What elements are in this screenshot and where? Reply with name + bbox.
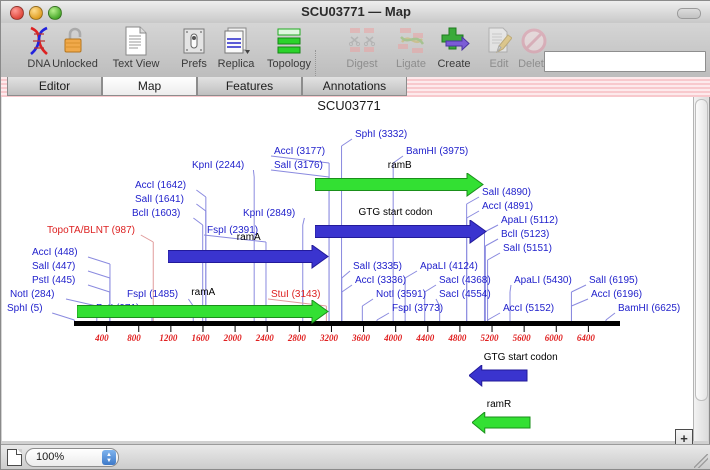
axis-tick	[492, 326, 493, 332]
axis-tick-label: 2400	[256, 333, 274, 343]
site-leader-hook	[342, 139, 352, 146]
axis-tick	[106, 326, 107, 332]
site-leader-hook	[196, 204, 205, 211]
restriction-site-label[interactable]: BclI (5123)	[501, 229, 549, 240]
site-leader-hook	[572, 299, 588, 306]
axis-tick-label: 400	[95, 333, 109, 343]
toolbar-button-replica[interactable]: Replica	[206, 25, 266, 75]
site-leader-hook	[88, 257, 110, 264]
axis-tick	[363, 326, 364, 332]
site-leader-hook	[488, 313, 500, 320]
feature-arrow-ramb[interactable]	[315, 173, 485, 198]
site-leader-hook	[606, 313, 615, 320]
updown-stepper-icon[interactable]: ▲▼	[102, 450, 116, 465]
range-input[interactable]	[544, 51, 706, 72]
scrollbar-thumb[interactable]	[695, 99, 708, 401]
feature-label: ramA	[191, 287, 215, 298]
toolbar-button-label: Replica	[206, 58, 266, 70]
restriction-site-label[interactable]: ApaLI (5430)	[514, 275, 572, 286]
arrow-shape	[315, 173, 483, 196]
axis-tick	[299, 326, 300, 332]
axis-tick	[459, 326, 460, 332]
restriction-site-label[interactable]: SalI (4890)	[482, 187, 531, 198]
axis-tick-label: 6400	[577, 333, 595, 343]
restriction-site-label[interactable]: StuI (3143)	[271, 289, 320, 300]
open-padlock-icon	[45, 25, 105, 57]
restriction-site-label[interactable]: AccI (3336)	[355, 275, 406, 286]
restriction-site-label[interactable]: AccI (4891)	[482, 201, 533, 212]
tab-features[interactable]: Features	[197, 77, 302, 96]
restriction-site-label[interactable]: ApaLI (5112)	[501, 215, 558, 226]
site-leader-hook	[377, 313, 389, 320]
restriction-site-label[interactable]: KpnI (2849)	[243, 208, 295, 219]
site-leader-hook	[488, 253, 500, 260]
tab-editor[interactable]: Editor	[7, 77, 102, 96]
restriction-site-label[interactable]: SalI (5151)	[503, 243, 552, 254]
toolbar-button-text-view[interactable]: Text View	[106, 25, 166, 75]
tab-annotations[interactable]: Annotations	[302, 77, 407, 96]
axis-tick-label: 5200	[481, 333, 499, 343]
axis-tick	[524, 326, 525, 332]
site-leader-hook	[52, 313, 74, 320]
axis-tick	[202, 326, 203, 332]
site-leader-hook	[571, 285, 586, 292]
site-leader-hook	[362, 299, 373, 306]
axis-tick	[395, 326, 396, 332]
restriction-site-label[interactable]: SalI (3176)	[274, 160, 323, 171]
restriction-site-label[interactable]: BamHI (3975)	[406, 146, 468, 157]
axis-tick-label: 1600	[191, 333, 209, 343]
arrow-shape	[77, 300, 328, 323]
axis-tick	[588, 326, 589, 332]
restriction-site-label[interactable]: NotI (284)	[10, 289, 54, 300]
zoom-value: 100%	[36, 451, 64, 463]
feature-arrow-gtg-start-codon[interactable]	[315, 220, 488, 245]
axis-tick-label: 4800	[448, 333, 466, 343]
restriction-site-label[interactable]: SphI (3332)	[355, 129, 407, 140]
feature-arrow-rama[interactable]	[168, 245, 330, 270]
title-bar: SCU03771 — Map	[1, 1, 710, 24]
arrow-shape	[469, 365, 527, 386]
axis-tick	[331, 326, 332, 332]
axis-tick-label: 5600	[513, 333, 531, 343]
axis-tick-label: 3600	[352, 333, 370, 343]
zoom-select[interactable]: 100% ▲▼	[25, 448, 119, 467]
axis-tick	[235, 326, 236, 332]
restriction-site-label[interactable]: SphI (5)	[7, 303, 43, 314]
toolbar-toggle-button[interactable]	[677, 8, 701, 19]
site-leader-hook	[253, 170, 254, 177]
site-leader-hook	[467, 197, 479, 204]
status-bar: 100% ▲▼	[1, 444, 710, 469]
feature-arrow-gtg-start-codon[interactable]	[469, 365, 529, 388]
restriction-site-label[interactable]: ApaLI (4124)	[420, 261, 478, 272]
restriction-site-label[interactable]: SacI (4554)	[439, 289, 491, 300]
page-icon	[7, 449, 22, 466]
topology-bars-icon	[259, 25, 319, 57]
axis-tick-label: 800	[127, 333, 141, 343]
axis-tick-label: 2800	[288, 333, 306, 343]
restriction-site-label[interactable]: SalI (3335)	[353, 261, 402, 272]
feature-label: ramB	[388, 160, 412, 171]
site-leader-hook	[510, 285, 511, 292]
restriction-site-label[interactable]: TopoTA/BLNT (987)	[47, 225, 135, 236]
tab-map[interactable]: Map	[102, 77, 197, 96]
toolbar: DNA Unlocked Text View Prefs Replica Top…	[1, 23, 710, 78]
map-canvas[interactable]: SCU03771 4008001200160020002400280032003…	[2, 97, 696, 441]
site-leader-hook	[342, 285, 352, 292]
site-leader-hook	[342, 271, 350, 278]
restriction-site-label[interactable]: BamHI (6625)	[618, 303, 680, 314]
document-text-icon	[106, 25, 166, 57]
restriction-site-label[interactable]: SacI (4368)	[439, 275, 491, 286]
feature-label: ramR	[487, 399, 511, 410]
replica-stack-icon	[206, 25, 266, 57]
restriction-site-label[interactable]: AccI (448)	[32, 247, 78, 258]
axis-tick	[170, 326, 171, 332]
app-window: SCU03771 — Map DNA Unlocked Text View Pr…	[0, 0, 710, 470]
toolbar-button-topology[interactable]: Topology	[259, 25, 319, 75]
axis-tick-label: 3200	[320, 333, 338, 343]
feature-label: ramA	[237, 232, 261, 243]
arrow-shape	[472, 412, 530, 433]
arrow-shape	[168, 245, 328, 268]
axis-tick-label: 4400	[416, 333, 434, 343]
feature-label: GTG start codon	[484, 352, 558, 363]
restriction-site-label[interactable]: AccI (3177)	[274, 146, 325, 157]
axis-tick	[556, 326, 557, 332]
restriction-site-label[interactable]: BclI (1603)	[132, 208, 180, 219]
toolbar-button-label: Topology	[259, 58, 319, 70]
axis-tick-label: 1200	[159, 333, 177, 343]
toolbar-button-unlocked[interactable]: Unlocked	[45, 25, 105, 75]
feature-arrow-rama[interactable]	[77, 300, 330, 325]
axis-tick	[267, 326, 268, 332]
restriction-site-label[interactable]: PstI (445)	[32, 275, 75, 286]
site-leader-hook	[141, 235, 153, 242]
feature-label: GTG start codon	[359, 207, 433, 218]
site-leader-hook	[467, 211, 479, 218]
restriction-site-label[interactable]: FspI (1485)	[127, 289, 178, 300]
axis-tick-label: 2000	[224, 333, 242, 343]
toolbar-button-label: Unlocked	[45, 58, 105, 70]
restriction-site-label[interactable]: AccI (5152)	[503, 303, 554, 314]
site-leader-hook	[425, 285, 436, 292]
site-leader-hook	[196, 190, 205, 197]
restriction-site-label[interactable]: SalI (447)	[32, 261, 75, 272]
arrow-shape	[315, 220, 486, 243]
feature-arrow-ramr[interactable]	[472, 412, 532, 435]
site-leader-hook	[88, 285, 110, 292]
resize-grip[interactable]	[694, 454, 708, 468]
restriction-site-label[interactable]: FspI (3773)	[392, 303, 443, 314]
restriction-site-label[interactable]: SalI (1641)	[135, 194, 184, 205]
restriction-site-label[interactable]: AccI (1642)	[135, 180, 186, 191]
axis-tick-label: 6000	[545, 333, 563, 343]
axis-tick	[138, 326, 139, 332]
restriction-site-label[interactable]: NotI (3591)	[376, 289, 426, 300]
tab-bar: EditorMapFeaturesAnnotations	[1, 77, 710, 97]
restriction-site-label[interactable]: KpnI (2244)	[192, 160, 244, 171]
restriction-site-label[interactable]: AccI (6196)	[591, 289, 642, 300]
axis-tick	[427, 326, 428, 332]
window-title: SCU03771 — Map	[1, 4, 710, 19]
toolbar-button-label: Text View	[106, 58, 166, 70]
vertical-scrollbar[interactable]	[693, 97, 708, 441]
site-leader-hook	[88, 271, 110, 278]
site-leader-hook	[193, 218, 202, 225]
site-leader-hook	[303, 218, 305, 225]
axis-tick-label: 4000	[384, 333, 402, 343]
site-leader-hook	[405, 271, 417, 278]
restriction-site-label[interactable]: SalI (6195)	[589, 275, 638, 286]
